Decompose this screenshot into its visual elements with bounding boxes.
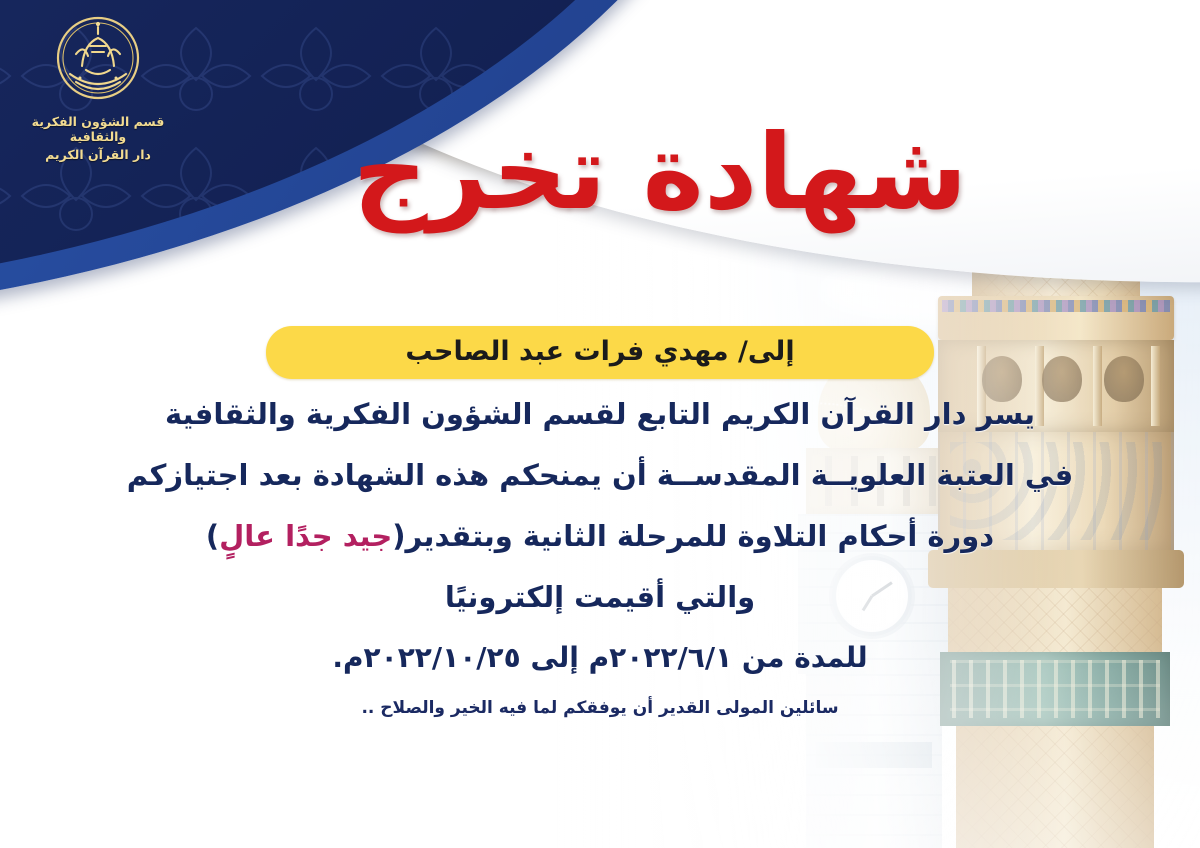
page-title: شهادة تخرج bbox=[0, 118, 1200, 227]
course-text-suffix: ) bbox=[206, 519, 219, 553]
body-line-1: يسر دار القرآن الكريم التابع لقسم الشؤون… bbox=[0, 400, 1200, 429]
body-line-4: والتي أقيمت إلكترونيًا bbox=[0, 583, 1200, 612]
certificate-title-text: شهادة تخرج bbox=[353, 118, 968, 227]
emblem-svg bbox=[46, 8, 150, 112]
body-line-3: دورة أحكام التلاوة للمرحلة الثانية وبتقد… bbox=[0, 522, 1200, 551]
course-text: دورة أحكام التلاوة للمرحلة الثانية وبتقد… bbox=[392, 519, 994, 553]
shrine-emblem-icon bbox=[46, 8, 150, 112]
grade-text: جيد جدًا عالٍ bbox=[219, 519, 392, 553]
closing-blessing: سائلين المولى القدير أن يوفقكم لما فيه ا… bbox=[0, 698, 1200, 718]
body-line-2: في العتبة العلويــة المقدســة أن يمنحكم … bbox=[0, 461, 1200, 490]
body-line-dates: للمدة من ٢٠٢٢/٦/١م إلى ٢٠٢٢/١٠/٢٥م. bbox=[0, 644, 1200, 672]
certificate-canvas: قسم الشؤون الفكرية والثقافية دار القرآن … bbox=[0, 0, 1200, 848]
recipient-name-badge: إلى/ مهدي فرات عبد الصاحب bbox=[266, 326, 934, 379]
certificate-body: يسر دار القرآن الكريم التابع لقسم الشؤون… bbox=[0, 400, 1200, 718]
recipient-badge-container: إلى/ مهدي فرات عبد الصاحب bbox=[0, 326, 1200, 379]
